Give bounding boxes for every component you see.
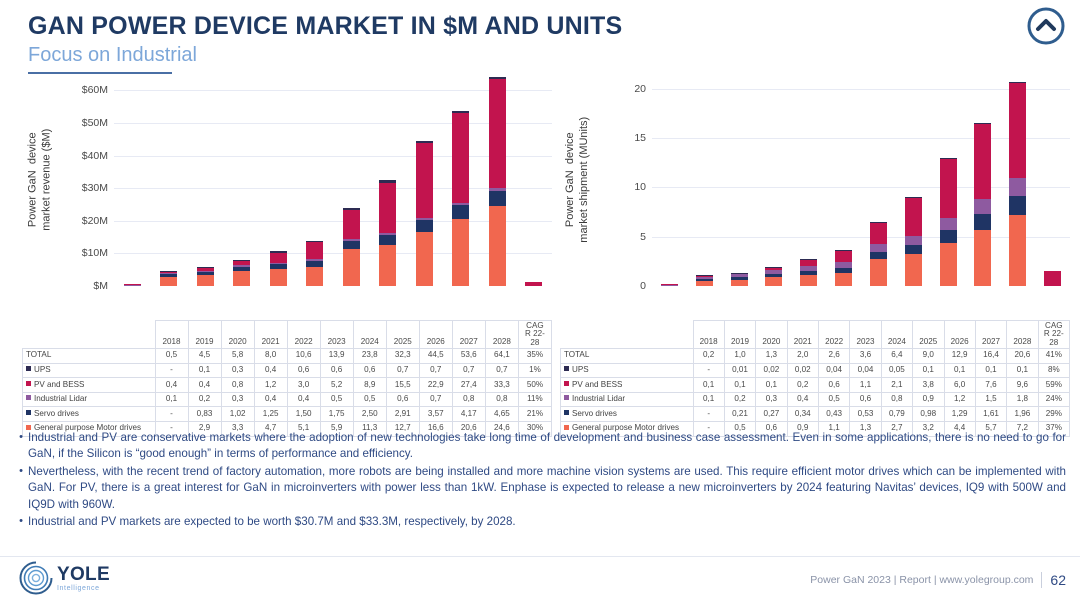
revenue-ytick: $60M	[82, 84, 108, 96]
bar-group[interactable]	[826, 74, 861, 286]
bar-group[interactable]	[965, 74, 1000, 286]
stacked-bar[interactable]	[197, 267, 214, 286]
revenue-ytick: $10M	[82, 247, 108, 259]
table-cell: 1,61	[975, 407, 1006, 422]
bar-segment-pv-and-bess[interactable]	[489, 79, 506, 188]
table-header-year: 2027	[452, 321, 485, 349]
table-cell: 1,02	[221, 407, 254, 422]
table-cell: -	[693, 407, 724, 422]
shipment-ylabel-text: Power GaN devicemarket shipment (MUnits)	[564, 117, 592, 243]
legend-swatch	[564, 381, 569, 386]
table-cell: 0,1	[975, 363, 1006, 378]
table-row-label: TOTAL	[561, 349, 694, 364]
table-cell: 1,2	[944, 392, 975, 407]
table-cell: 12,9	[944, 349, 975, 364]
stacked-bar[interactable]	[270, 251, 287, 286]
bar-segment-general-purpose-motor-drives[interactable]	[1009, 215, 1026, 286]
revenue-ytick: $30M	[82, 182, 108, 194]
bar-segment-servo-drives[interactable]	[870, 252, 887, 260]
bar-group[interactable]	[260, 74, 297, 286]
table-cell: 0,2	[724, 392, 755, 407]
table-header-year: 2019	[188, 321, 221, 349]
table-header-year: 2019	[724, 321, 755, 349]
table-cell: 3,57	[419, 407, 452, 422]
table-cell: -	[155, 407, 188, 422]
table-header-year: 2023	[850, 321, 881, 349]
bar-segment-servo-drives[interactable]	[452, 205, 469, 219]
revenue-ylabel-text: Power GaN devicemarket revenue ($M)	[26, 129, 54, 231]
table-cell: 0,27	[756, 407, 787, 422]
table-cell: 6,4	[881, 349, 912, 364]
shipment-chart-yticks: 05101520	[596, 74, 652, 286]
table-cell: 0,4	[254, 392, 287, 407]
bar-segment-general-purpose-motor-drives[interactable]	[160, 277, 177, 286]
table-header-year: 2024	[881, 321, 912, 349]
table-cell: 3,0	[287, 378, 320, 393]
bar-segment-servo-drives[interactable]	[379, 235, 396, 244]
page-number: 62	[1050, 572, 1066, 588]
table-cell: 0,2	[188, 392, 221, 407]
bar-segment-general-purpose-motor-drives[interactable]	[731, 280, 748, 286]
table-cell: 0,4	[287, 392, 320, 407]
table-cell: 7,6	[975, 378, 1006, 393]
table-row: Industrial Lidar0,10,20,30,40,40,50,50,6…	[23, 392, 552, 407]
table-cell: 33,3	[485, 378, 518, 393]
revenue-data-table: 2018201920202021202220232024202520262027…	[22, 320, 552, 437]
footer-credit: Power GaN 2023 | Report | www.yolegroup.…	[810, 574, 1033, 586]
table-cell: 11%	[518, 392, 551, 407]
table-cell: 0,5	[320, 392, 353, 407]
bar-group[interactable]	[931, 74, 966, 286]
bar-segment-industrial-lidar[interactable]	[905, 236, 922, 245]
table-cell: 13,9	[320, 349, 353, 364]
table-row: UPS-0,010,020,020,040,040,050,10,10,10,1…	[561, 363, 1070, 378]
table-cell: 1,3	[756, 349, 787, 364]
shipment-chart-plot	[652, 74, 1070, 286]
table-cell: 41%	[1038, 349, 1069, 364]
legend-swatch	[564, 410, 569, 415]
bullet-item: •Industrial and PV are conservative mark…	[14, 430, 1066, 463]
revenue-ytick: $50M	[82, 117, 108, 129]
table-cell: 0,3	[756, 392, 787, 407]
table-cell: 0,1	[724, 378, 755, 393]
table-cell: 0,34	[787, 407, 818, 422]
bar-group[interactable]	[151, 74, 188, 286]
table-cell: 0,6	[386, 392, 419, 407]
table-cell: 0,3	[221, 363, 254, 378]
stacked-bar[interactable]	[1009, 82, 1026, 286]
table-cell: 2,50	[353, 407, 386, 422]
bullet-text: Industrial and PV are conservative marke…	[28, 430, 1066, 463]
bar-segment-industrial-lidar[interactable]	[124, 285, 141, 286]
table-cell: 2,0	[787, 349, 818, 364]
table-cell: 5,8	[221, 349, 254, 364]
table-cell: 0,83	[188, 407, 221, 422]
bar-segment-servo-drives[interactable]	[416, 220, 433, 232]
table-cell: 0,1	[756, 378, 787, 393]
table-row-label: Industrial Lidar	[23, 392, 156, 407]
bar-group[interactable]	[370, 74, 407, 286]
revenue-bars	[114, 74, 552, 286]
bar-segment-pv-and-bess[interactable]	[525, 282, 542, 286]
stacked-bar[interactable]	[124, 284, 141, 286]
table-cell: 0,04	[819, 363, 850, 378]
bullet-text: Industrial and PV markets are expected t…	[28, 514, 1066, 530]
bar-segment-general-purpose-motor-drives[interactable]	[343, 249, 360, 286]
table-cell: 0,53	[850, 407, 881, 422]
stacked-bar[interactable]	[905, 197, 922, 286]
stacked-bar-cagr[interactable]	[525, 282, 542, 286]
shipment-ytick: 15	[634, 132, 646, 144]
table-cell: 6,0	[944, 378, 975, 393]
table-cell: 1,50	[287, 407, 320, 422]
shipment-ytick: 20	[634, 83, 646, 95]
table-cell: 0,2	[787, 378, 818, 393]
table-cell: 9,0	[913, 349, 944, 364]
stacked-bar[interactable]	[661, 284, 678, 286]
table-cell: 3,8	[913, 378, 944, 393]
table-row: UPS-0,10,30,40,60,60,60,70,70,70,71%	[23, 363, 552, 378]
table-cell: 0,1	[1007, 363, 1038, 378]
table-cell: 0,02	[787, 363, 818, 378]
bar-group[interactable]	[479, 74, 516, 286]
table-cell: 23,8	[353, 349, 386, 364]
revenue-chart-ylabel: Power GaN devicemarket revenue ($M)	[22, 74, 58, 286]
table-cell: 22,9	[419, 378, 452, 393]
footer-divider	[0, 556, 1080, 557]
bullet-marker-icon: •	[14, 430, 28, 463]
bar-segment-industrial-lidar[interactable]	[940, 218, 957, 230]
stacked-bar[interactable]	[160, 271, 177, 286]
table-header-year: 2022	[287, 321, 320, 349]
stacked-bar[interactable]	[233, 260, 250, 286]
bar-segment-servo-drives[interactable]	[1009, 196, 1026, 215]
stacked-bar[interactable]	[974, 123, 991, 286]
table-cell: 2,91	[386, 407, 419, 422]
stacked-bar[interactable]	[306, 241, 323, 286]
stacked-bar[interactable]	[343, 208, 360, 286]
bar-group[interactable]	[1000, 74, 1035, 286]
bar-segment-servo-drives[interactable]	[905, 245, 922, 255]
bar-segment-general-purpose-motor-drives[interactable]	[270, 269, 287, 286]
bar-group-cagr[interactable]	[1035, 74, 1070, 286]
table-cell: 1,8	[1007, 392, 1038, 407]
table-cell: 0,4	[155, 378, 188, 393]
table-header-blank	[561, 321, 694, 349]
table-cell: 0,5	[353, 392, 386, 407]
table-cell: 1,25	[254, 407, 287, 422]
table-cell: 1,0	[724, 349, 755, 364]
bar-segment-general-purpose-motor-drives[interactable]	[696, 281, 713, 286]
table-cell: 4,17	[452, 407, 485, 422]
bar-group[interactable]	[756, 74, 791, 286]
table-cell: 0,04	[850, 363, 881, 378]
bar-segment-general-purpose-motor-drives[interactable]	[452, 219, 469, 286]
table-cell: 0,7	[419, 363, 452, 378]
bar-segment-pv-and-bess[interactable]	[905, 198, 922, 235]
bar-group[interactable]	[791, 74, 826, 286]
table-cell: 1,1	[850, 378, 881, 393]
table-row-label: Industrial Lidar	[561, 392, 694, 407]
brand-subtitle: Intelligence	[57, 585, 110, 592]
table-cell: 0,6	[287, 363, 320, 378]
revenue-ytick: $40M	[82, 150, 108, 162]
table-cell: 0,21	[724, 407, 755, 422]
bar-segment-industrial-lidar[interactable]	[1009, 178, 1026, 196]
stacked-bar[interactable]	[765, 267, 782, 286]
table-cell: 0,6	[353, 363, 386, 378]
table-header-row: 2018201920202021202220232024202520262027…	[561, 321, 1070, 349]
revenue-ytick: $20M	[82, 215, 108, 227]
table-cell: 0,9	[913, 392, 944, 407]
table-cell: 15,5	[386, 378, 419, 393]
shipment-data-table: 2018201920202021202220232024202520262027…	[560, 320, 1070, 437]
chevron-up-circle-icon[interactable]	[1026, 6, 1066, 46]
table-cell: 0,7	[452, 363, 485, 378]
footer-separator	[1041, 572, 1042, 588]
table-row-label: PV and BESS	[23, 378, 156, 393]
table-header-row: 2018201920202021202220232024202520262027…	[23, 321, 552, 349]
legend-swatch	[26, 395, 31, 400]
table-cell: 0,3	[221, 392, 254, 407]
bar-segment-industrial-lidar[interactable]	[661, 285, 678, 286]
table-cell: 3,6	[850, 349, 881, 364]
bar-segment-pv-and-bess[interactable]	[306, 242, 323, 259]
table-cell: 5,2	[320, 378, 353, 393]
table-cell: 59%	[1038, 378, 1069, 393]
bar-segment-general-purpose-motor-drives[interactable]	[974, 230, 991, 286]
bullet-list: •Industrial and PV are conservative mark…	[14, 430, 1066, 532]
bar-group[interactable]	[114, 74, 151, 286]
bar-segment-general-purpose-motor-drives[interactable]	[940, 243, 957, 286]
bar-segment-general-purpose-motor-drives[interactable]	[379, 245, 396, 286]
bar-segment-general-purpose-motor-drives[interactable]	[835, 273, 852, 286]
table-cell: 27,4	[452, 378, 485, 393]
stacked-bar[interactable]	[696, 275, 713, 286]
table-cell: 4,65	[485, 407, 518, 422]
stacked-bar[interactable]	[489, 77, 506, 286]
shipment-ytick: 10	[634, 181, 646, 193]
bar-group[interactable]	[443, 74, 480, 286]
table-cell: 0,1	[944, 363, 975, 378]
table-row: Servo drives-0,831,021,251,501,752,502,9…	[23, 407, 552, 422]
table-cell: 0,8	[221, 378, 254, 393]
bar-segment-general-purpose-motor-drives[interactable]	[765, 277, 782, 286]
table-cell: 0,43	[819, 407, 850, 422]
table-cell: 0,5	[155, 349, 188, 364]
table-cell: 2,6	[819, 349, 850, 364]
bar-group[interactable]	[861, 74, 896, 286]
stacked-bar[interactable]	[379, 180, 396, 286]
bar-segment-servo-drives[interactable]	[974, 214, 991, 230]
stacked-bar[interactable]	[731, 273, 748, 286]
table-cell: 1,96	[1007, 407, 1038, 422]
bar-group[interactable]	[224, 74, 261, 286]
legend-swatch	[26, 425, 31, 430]
table-cell: 4,5	[188, 349, 221, 364]
bar-segment-pv-and-bess[interactable]	[452, 113, 469, 202]
bar-segment-servo-drives[interactable]	[343, 241, 360, 249]
table-header-year: 2028	[1007, 321, 1038, 349]
bar-segment-general-purpose-motor-drives[interactable]	[306, 267, 323, 286]
stacked-bar[interactable]	[452, 111, 469, 286]
table-header-year: 2021	[254, 321, 287, 349]
legend-swatch	[564, 366, 569, 371]
table-cell: 10,6	[287, 349, 320, 364]
table-cell: 24%	[1038, 392, 1069, 407]
table-header-blank	[23, 321, 156, 349]
table-cell: 0,4	[787, 392, 818, 407]
bar-segment-pv-and-bess[interactable]	[870, 223, 887, 244]
table-cell: 0,6	[819, 378, 850, 393]
table-cell: 0,4	[188, 378, 221, 393]
table-header-year: 2022	[819, 321, 850, 349]
table-cell: 1,5	[975, 392, 1006, 407]
table-cell: -	[155, 363, 188, 378]
bar-group[interactable]	[652, 74, 687, 286]
bar-group[interactable]	[333, 74, 370, 286]
bar-segment-servo-drives[interactable]	[940, 230, 957, 243]
stacked-bar[interactable]	[416, 141, 433, 286]
legend-swatch	[564, 395, 569, 400]
shipment-ytick: 0	[640, 280, 646, 292]
page-title: GAN POWER DEVICE MARKET IN $M AND UNITS	[28, 12, 622, 41]
table-cell: 0,8	[485, 392, 518, 407]
table-cell: 0,7	[485, 363, 518, 378]
stacked-bar[interactable]	[870, 222, 887, 286]
table-cell: 9,6	[1007, 378, 1038, 393]
shipment-table: 2018201920202021202220232024202520262027…	[560, 320, 1070, 437]
table-header-year: 2018	[155, 321, 188, 349]
bar-group[interactable]	[687, 74, 722, 286]
table-row-label: UPS	[561, 363, 694, 378]
stacked-bar[interactable]	[800, 259, 817, 286]
table-row-label: TOTAL	[23, 349, 156, 364]
bar-segment-general-purpose-motor-drives[interactable]	[416, 232, 433, 286]
legend-swatch	[26, 410, 31, 415]
bar-segment-pv-and-bess[interactable]	[270, 253, 287, 263]
bar-segment-general-purpose-motor-drives[interactable]	[905, 254, 922, 286]
table-cell: 0,79	[881, 407, 912, 422]
bar-segment-industrial-lidar[interactable]	[974, 199, 991, 214]
table-cell: 0,1	[693, 392, 724, 407]
table-cell: 35%	[518, 349, 551, 364]
yole-logo: YOLE Intelligence	[18, 560, 110, 596]
table-cell: 0,02	[756, 363, 787, 378]
table-cell: 0,6	[320, 363, 353, 378]
table-header-year: 2023	[320, 321, 353, 349]
bar-segment-general-purpose-motor-drives[interactable]	[489, 206, 506, 286]
bullet-item: •Nevertheless, with the recent trend of …	[14, 464, 1066, 513]
table-row-label: PV and BESS	[561, 378, 694, 393]
bar-segment-pv-and-bess[interactable]	[379, 183, 396, 234]
table-row: PV and BESS0,40,40,81,23,05,28,915,522,9…	[23, 378, 552, 393]
table-cell: 20,6	[1007, 349, 1038, 364]
table-header-year: 2028	[485, 321, 518, 349]
table-cell: 0,1	[913, 363, 944, 378]
bar-group[interactable]	[297, 74, 334, 286]
bar-segment-general-purpose-motor-drives[interactable]	[197, 275, 214, 286]
bar-segment-general-purpose-motor-drives[interactable]	[233, 271, 250, 286]
table-cell: 64,1	[485, 349, 518, 364]
table-cell: 53,6	[452, 349, 485, 364]
table-header-year: 2020	[756, 321, 787, 349]
bar-segment-pv-and-bess[interactable]	[940, 159, 957, 218]
table-cell: 0,01	[724, 363, 755, 378]
table-cell: 16,4	[975, 349, 1006, 364]
table-row: TOTAL0,54,55,88,010,613,923,832,344,553,…	[23, 349, 552, 364]
revenue-ytick: $M	[93, 280, 108, 292]
table-header-year: 2025	[913, 321, 944, 349]
stacked-bar-cagr[interactable]	[1044, 271, 1061, 286]
table-cell: 0,1	[155, 392, 188, 407]
table-cell: 0,1	[188, 363, 221, 378]
bar-segment-pv-and-bess[interactable]	[835, 251, 852, 262]
revenue-table: 2018201920202021202220232024202520262027…	[22, 320, 552, 437]
bar-group[interactable]	[896, 74, 931, 286]
bar-segment-pv-and-bess[interactable]	[416, 143, 433, 218]
table-cell: 0,98	[913, 407, 944, 422]
table-cell: 50%	[518, 378, 551, 393]
bar-segment-servo-drives[interactable]	[489, 191, 506, 206]
table-cell: 8,0	[254, 349, 287, 364]
table-cell: 1,2	[254, 378, 287, 393]
table-header-cagr: CAGR 22-28	[1038, 321, 1069, 349]
bar-segment-pv-and-bess[interactable]	[1009, 83, 1026, 178]
bar-group-cagr[interactable]	[516, 74, 553, 286]
table-row: Industrial Lidar0,10,20,30,40,50,60,80,9…	[561, 392, 1070, 407]
stacked-bar[interactable]	[835, 250, 852, 286]
table-row-label: UPS	[23, 363, 156, 378]
table-cell: 0,8	[452, 392, 485, 407]
table-cell: 1%	[518, 363, 551, 378]
table-cell: -	[693, 363, 724, 378]
table-cell: 29%	[1038, 407, 1069, 422]
table-cell: 0,7	[419, 392, 452, 407]
bar-segment-pv-and-bess[interactable]	[343, 210, 360, 239]
stacked-bar[interactable]	[940, 158, 957, 286]
footer-meta: Power GaN 2023 | Report | www.yolegroup.…	[810, 572, 1066, 588]
table-row-label: Servo drives	[23, 407, 156, 422]
table-header-year: 2026	[944, 321, 975, 349]
table-row-label: Servo drives	[561, 407, 694, 422]
bullet-text: Nevertheless, with the recent trend of f…	[28, 464, 1066, 513]
page-subtitle: Focus on Industrial	[28, 44, 197, 67]
bar-segment-industrial-lidar[interactable]	[870, 244, 887, 252]
table-header-year: 2025	[386, 321, 419, 349]
bar-segment-general-purpose-motor-drives[interactable]	[870, 259, 887, 286]
bar-segment-pv-and-bess[interactable]	[1044, 271, 1061, 286]
bar-segment-pv-and-bess[interactable]	[974, 124, 991, 199]
table-cell: 1,75	[320, 407, 353, 422]
legend-swatch	[26, 366, 31, 371]
brand-name: YOLE	[57, 565, 110, 584]
bar-segment-general-purpose-motor-drives[interactable]	[800, 275, 817, 286]
legend-swatch	[564, 425, 569, 430]
bar-group[interactable]	[722, 74, 757, 286]
table-cell: 0,2	[693, 349, 724, 364]
table-header-year: 2024	[353, 321, 386, 349]
table-cell: 0,05	[881, 363, 912, 378]
yole-spiral-icon	[18, 560, 54, 596]
bullet-marker-icon: •	[14, 464, 28, 513]
table-cell: 8,9	[353, 378, 386, 393]
table-header-year: 2018	[693, 321, 724, 349]
slide: GAN POWER DEVICE MARKET IN $M AND UNITS …	[0, 0, 1080, 602]
bar-group[interactable]	[187, 74, 224, 286]
table-cell: 0,8	[881, 392, 912, 407]
bar-group[interactable]	[406, 74, 443, 286]
